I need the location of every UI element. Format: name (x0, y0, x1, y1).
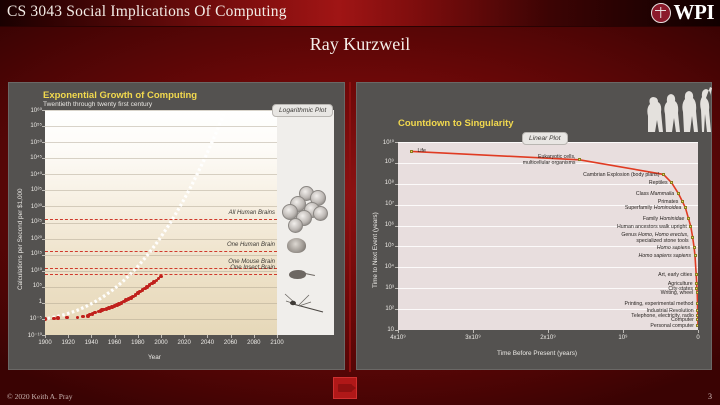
xtick-label: 2x10⁹ (534, 335, 562, 341)
event-marker (696, 291, 698, 294)
event-marker (578, 158, 581, 161)
xtick-mark (254, 335, 255, 338)
event-label: Human ancestors walk upright (545, 224, 687, 230)
xtick-mark (45, 335, 46, 338)
left-chart-xlabel: Year (148, 354, 161, 361)
event-label: Genus Homo, Homo erectus,specialized sto… (547, 232, 689, 244)
reference-label: All Human Brains (209, 210, 275, 216)
ytick-label: 1 (8, 299, 42, 305)
reference-label: One Human Brain (209, 242, 275, 248)
ytick-label: 10 (364, 327, 394, 333)
event-marker (681, 200, 684, 203)
data-point (81, 315, 85, 319)
xtick-mark (138, 335, 139, 338)
ytick-label: 10¹⁵ (8, 251, 42, 257)
wpi-logo: WPI (651, 2, 715, 23)
ytick-label: 10²⁰ (8, 235, 42, 242)
xtick-mark (91, 335, 92, 338)
event-marker (662, 173, 665, 176)
ytick-label: 10⁵⁰ (8, 139, 42, 146)
page-number: 3 (708, 392, 712, 401)
event-label: Homo sapiens sapiens (549, 253, 691, 259)
event-marker (689, 225, 692, 228)
event-marker (696, 302, 698, 305)
ytick-label: 10³⁰ (8, 203, 42, 210)
event-marker (695, 287, 698, 290)
right-chart-title: Countdown to Singularity (398, 118, 514, 129)
xtick-label: 1920 (57, 340, 79, 346)
event-label: Family Hominidae (542, 216, 684, 222)
xtick-mark (473, 330, 474, 333)
slide-header: CS 3043 Social Implications Of Computing… (0, 0, 720, 27)
event-marker (693, 246, 696, 249)
ytick-label: 10⁵ (364, 243, 394, 249)
event-label: Class Mammalia (532, 191, 674, 197)
data-point (56, 316, 60, 320)
ytick-label: 10¹⁰ (8, 267, 42, 274)
copyright-text: © 2020 Keith A. Pray (7, 392, 73, 401)
reference-label: One Insect Brain (209, 265, 275, 271)
xtick-label: 1980 (127, 340, 149, 346)
ytick-label: 10⁻¹⁰ (8, 332, 42, 339)
ytick-label: 10⁶⁰ (8, 107, 42, 114)
human-evolution-silhouettes-icon (642, 86, 712, 132)
xtick-label: 1940 (80, 340, 102, 346)
xtick-mark (398, 330, 399, 333)
event-label: Life (418, 148, 426, 154)
event-marker (687, 217, 690, 220)
event-label: Cambrian Explosion (body plans) (518, 172, 660, 178)
wpi-seal-icon (651, 3, 671, 23)
ytick-label: 10⁴⁰ (8, 171, 42, 178)
ytick-label: 10²⁵ (8, 219, 42, 225)
event-label: Reptiles (526, 180, 668, 186)
ytick-label: 10¹⁰ (364, 139, 394, 146)
ytick-label: 10⁴ (364, 264, 394, 270)
data-point (45, 317, 47, 321)
xtick-label: 1960 (104, 340, 126, 346)
page-title: Ray Kurzweil (0, 34, 720, 55)
ytick-label: 10⁷ (364, 201, 394, 207)
event-marker (410, 150, 413, 153)
event-marker (696, 318, 698, 321)
xtick-label: 3x10⁹ (459, 335, 487, 341)
xtick-mark (184, 335, 185, 338)
ytick-label: 10³⁵ (8, 187, 42, 193)
xtick-mark (115, 335, 116, 338)
event-label: Superfamily Hominoidea (539, 205, 681, 211)
xtick-label: 2100 (266, 340, 288, 346)
xtick-mark (161, 335, 162, 338)
ytick-label: 10² (364, 306, 394, 312)
event-label: Personal computer (552, 323, 694, 329)
ytick-label: 10⁴⁵ (8, 155, 42, 161)
xtick-mark (548, 330, 549, 333)
mouse-icon (289, 270, 306, 279)
ytick-label: 10³ (364, 285, 394, 291)
xtick-mark (277, 335, 278, 338)
xtick-label: 0 (684, 335, 712, 341)
event-marker (677, 192, 680, 195)
xtick-mark (207, 335, 208, 338)
left-chart-subtitle: Twentieth through twenty first century (43, 101, 152, 108)
human-brain-icon (287, 238, 306, 253)
course-title: CS 3043 Social Implications Of Computing (7, 3, 287, 21)
ytick-label: 10⁵ (8, 283, 42, 289)
xtick-label: 10⁹ (609, 335, 637, 341)
ytick-label: 10⁻⁵ (8, 315, 42, 322)
xtick-label: 2080 (243, 340, 265, 346)
xtick-label: 2000 (150, 340, 172, 346)
human-face-icon (288, 218, 303, 233)
event-marker (696, 309, 698, 312)
ytick-label: 10⁸ (364, 180, 394, 186)
event-label: Homo sapiens (548, 245, 690, 251)
xtick-mark (231, 335, 232, 338)
event-label: Writing, wheel (551, 290, 693, 296)
ytick-label: 10⁶ (364, 222, 394, 228)
event-marker (695, 282, 698, 285)
xtick-mark (698, 330, 699, 333)
left-chart-trend-line (45, 110, 277, 335)
left-chart-scale-badge: Logarithmic Plot (272, 104, 333, 117)
right-chart-scale-badge: Linear Plot (522, 132, 568, 145)
event-label: Primates (536, 199, 678, 205)
event-marker (691, 236, 694, 239)
xtick-label: 2020 (173, 340, 195, 346)
right-chart-xlabel: Time Before Present (years) (497, 350, 577, 357)
ytick-label: 10⁹ (364, 159, 394, 165)
xtick-label: 1900 (34, 340, 56, 346)
video-icon[interactable] (333, 377, 357, 399)
event-label: Art, early cities (550, 272, 692, 278)
left-chart-pictogram-strip (277, 110, 334, 335)
xtick-mark (623, 330, 624, 333)
data-point (159, 275, 163, 279)
xtick-mark (68, 335, 69, 338)
event-marker (684, 206, 687, 209)
ytick-label: 10⁵⁵ (8, 123, 42, 129)
xtick-label: 2060 (220, 340, 242, 346)
event-marker (694, 254, 697, 257)
event-label: Eukaryotic cells,multicellular organisms (434, 154, 576, 166)
xtick-label: 2040 (196, 340, 218, 346)
slide-canvas: CS 3043 Social Implications Of Computing… (0, 0, 720, 405)
xtick-label: 4x10⁹ (384, 335, 412, 341)
event-label: Printing, experimental method (551, 301, 693, 307)
event-marker (696, 314, 698, 317)
wpi-logo-text: WPI (674, 2, 715, 23)
left-chart-title: Exponential Growth of Computing (43, 90, 197, 101)
reference-label: One Mouse Brain (209, 259, 275, 265)
event-marker (670, 181, 673, 184)
event-marker (695, 273, 698, 276)
event-marker (696, 324, 698, 327)
human-face-icon (313, 206, 328, 221)
left-chart-plot-area (45, 110, 277, 335)
dragonfly-icon (283, 292, 329, 318)
